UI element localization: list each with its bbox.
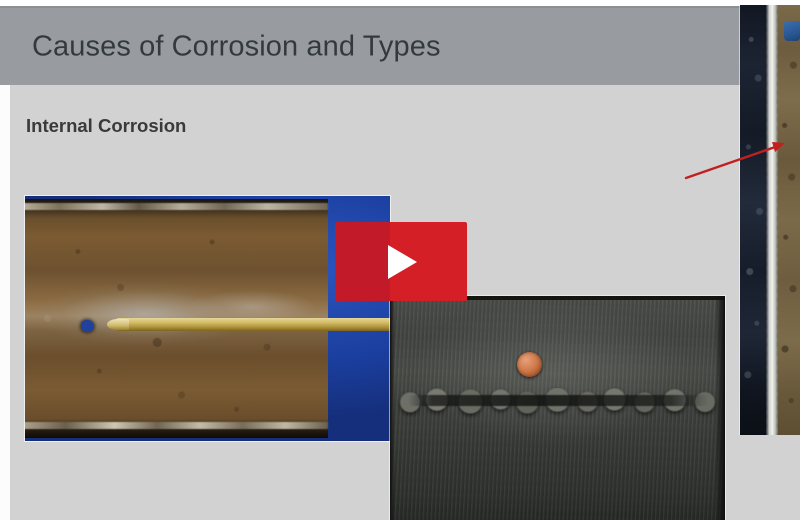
blue-coating-patch bbox=[784, 21, 800, 41]
play-triangle-icon bbox=[388, 245, 417, 279]
plate-left-edge bbox=[390, 296, 395, 520]
coin-scale-reference bbox=[517, 352, 542, 377]
pitted-weld-plate-photo bbox=[390, 296, 725, 520]
rusted-surface-region bbox=[778, 5, 800, 435]
play-button-background-left bbox=[335, 222, 390, 301]
section-heading: Internal Corrosion bbox=[26, 115, 186, 137]
corrosion-perforation bbox=[81, 320, 94, 332]
coated-steel-region bbox=[740, 5, 768, 435]
slide-body: Internal Corrosion bbox=[0, 85, 800, 520]
slide-left-gutter bbox=[0, 85, 10, 520]
slide-header-band: Causes of Corrosion and Types bbox=[0, 8, 800, 85]
presentation-slide-screen: Causes of Corrosion and Types Internal C… bbox=[0, 0, 800, 520]
weld-seam-strip-photo bbox=[740, 5, 800, 435]
plate-right-edge bbox=[715, 296, 725, 520]
slide-title: Causes of Corrosion and Types bbox=[32, 30, 441, 63]
weld-groove-shadow bbox=[408, 395, 708, 406]
pointer-tip bbox=[107, 319, 129, 330]
play-button[interactable] bbox=[335, 222, 467, 301]
pointer-rod bbox=[113, 318, 390, 331]
